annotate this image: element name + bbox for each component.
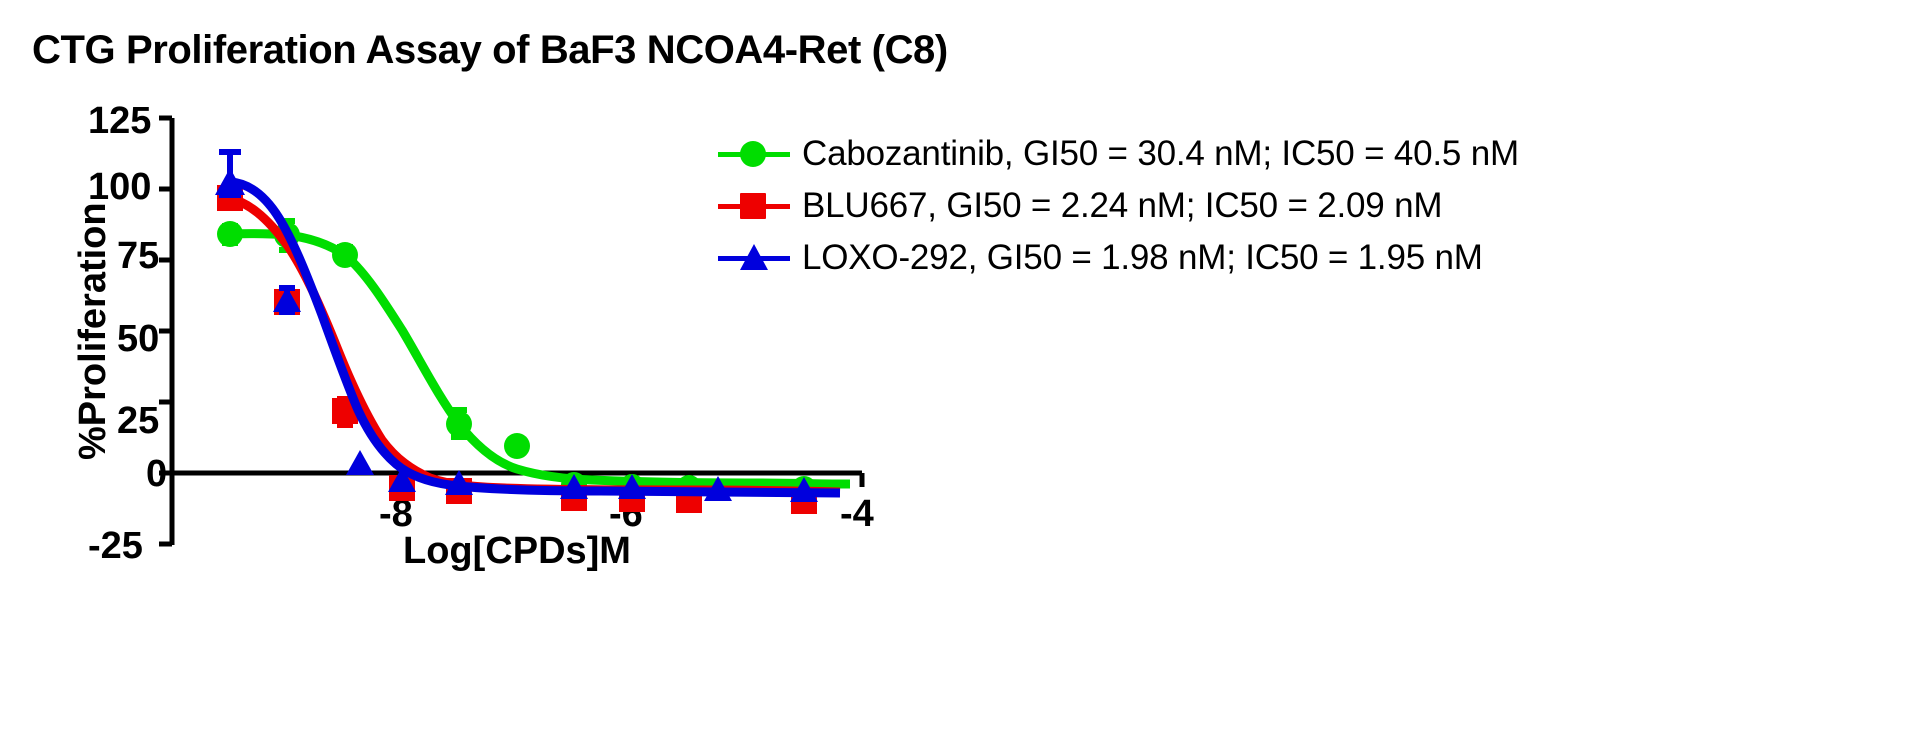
plot-area	[0, 0, 1925, 750]
legend-item-loxo292[interactable]: LOXO-292, GI50 = 1.98 nM; IC50 = 1.95 nM	[718, 232, 1908, 284]
legend-label-blu667: BLU667, GI50 = 2.24 nM; IC50 = 2.09 nM	[790, 186, 1442, 226]
legend-item-cabozantinib[interactable]: Cabozantinib, GI50 = 30.4 nM; IC50 = 40.…	[718, 128, 1908, 180]
legend-item-blu667[interactable]: BLU667, GI50 = 2.24 nM; IC50 = 2.09 nM	[718, 180, 1908, 232]
triangle-marker-icon	[740, 244, 768, 270]
legend-key-blu667	[718, 180, 790, 232]
legend-label-loxo292: LOXO-292, GI50 = 1.98 nM; IC50 = 1.95 nM	[790, 238, 1483, 278]
chart-canvas: CTG Proliferation Assay of BaF3 NCOA4-Re…	[0, 0, 1925, 750]
legend-label-cabozantinib: Cabozantinib, GI50 = 30.4 nM; IC50 = 40.…	[790, 134, 1519, 174]
chart-legend: Cabozantinib, GI50 = 30.4 nM; IC50 = 40.…	[718, 128, 1908, 284]
circle-marker-icon	[740, 141, 766, 167]
square-marker-icon	[740, 193, 766, 219]
legend-key-cabozantinib	[718, 128, 790, 180]
legend-key-loxo292	[718, 232, 790, 284]
